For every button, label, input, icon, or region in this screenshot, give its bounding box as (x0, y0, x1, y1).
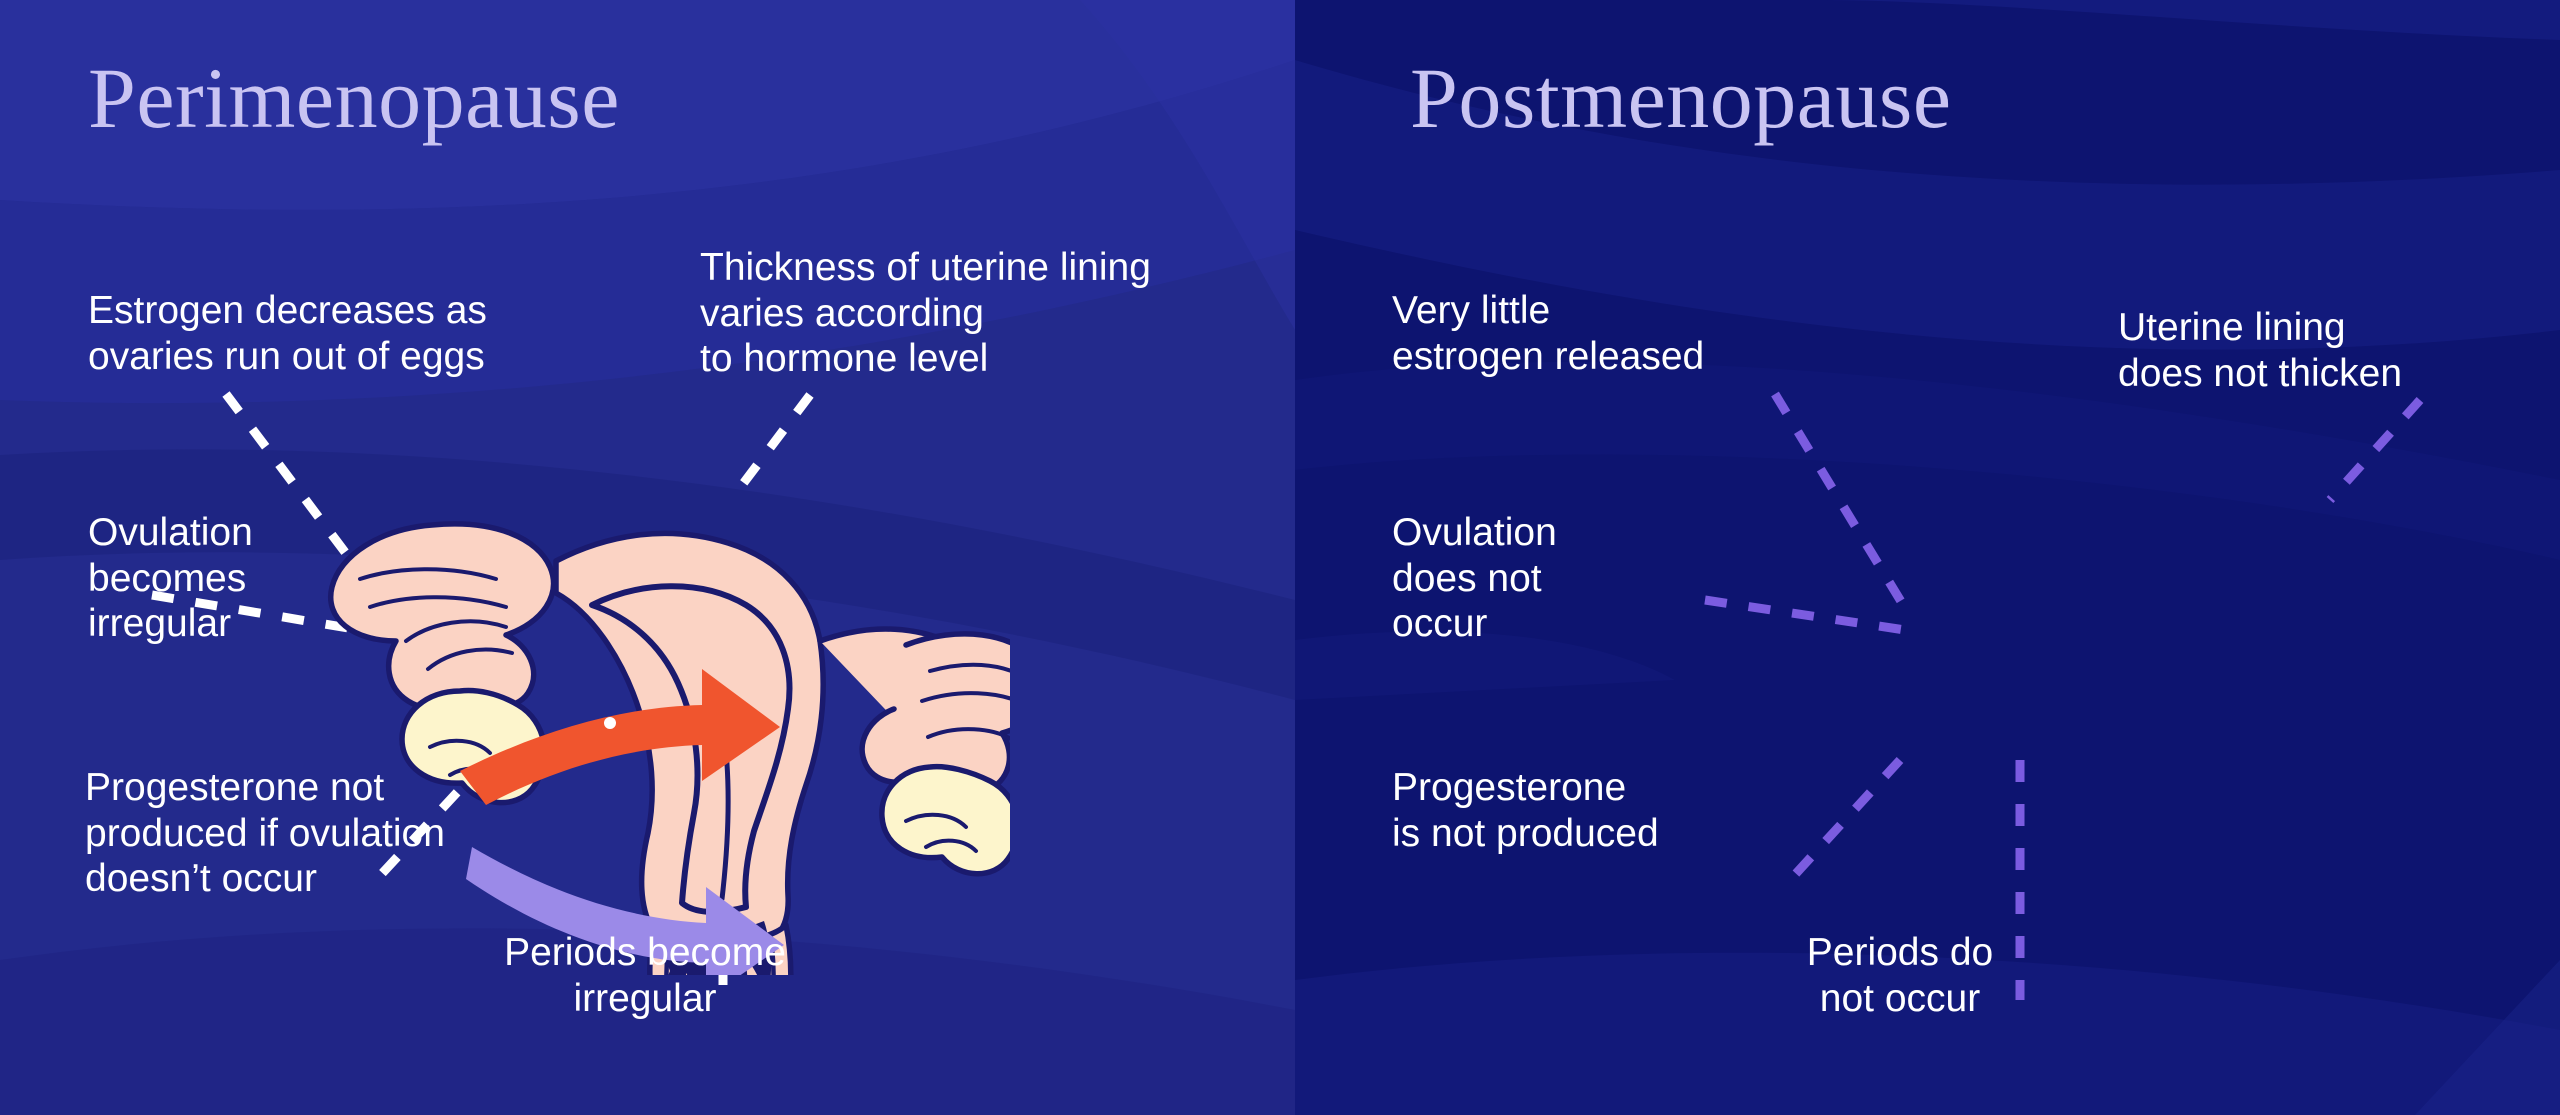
label-progesterone-is-not-produced: Progesterone is not produced (1392, 765, 1792, 856)
label-ovulation-irregular: Ovulation becomes irregular (88, 510, 418, 647)
panel-postmenopause: Postmenopause (1295, 0, 2560, 1115)
label-periods-do-not-occur: Periods do not occur (1710, 930, 2090, 1021)
infographic-canvas: Perimenopause (0, 0, 2560, 1115)
label-uterine-lining-thickness: Thickness of uterine lining varies accor… (700, 245, 1295, 382)
label-very-little-estrogen: Very little estrogen released (1392, 288, 1822, 379)
panel-perimenopause: Perimenopause (0, 0, 1295, 1115)
right-ovary (882, 767, 1010, 874)
label-periods-irregular: Periods become irregular (430, 930, 860, 1021)
page-title-postmenopause: Postmenopause (1410, 48, 1952, 148)
page-title-perimenopause: Perimenopause (88, 48, 620, 148)
label-uterine-lining-no-thicken: Uterine lining does not thicken (2118, 305, 2558, 396)
label-ovulation-does-not-occur: Ovulation does not occur (1392, 510, 1722, 647)
label-progesterone-not-produced: Progesterone not produced if ovulation d… (85, 765, 605, 902)
label-estrogen-decrease: Estrogen decreases as ovaries run out of… (88, 288, 648, 379)
